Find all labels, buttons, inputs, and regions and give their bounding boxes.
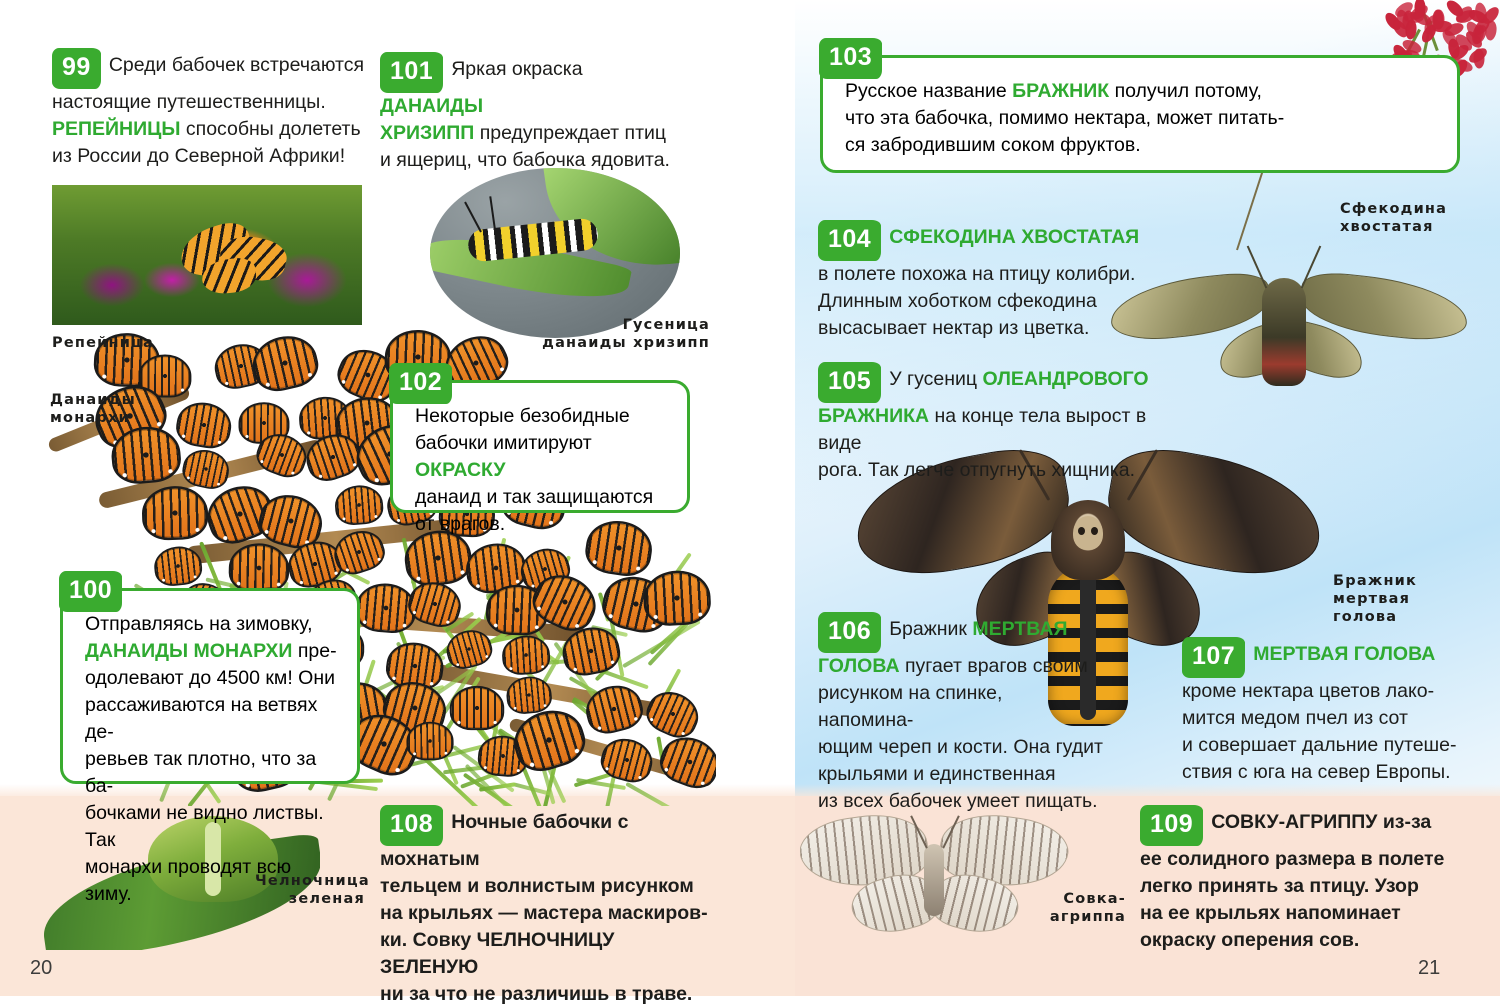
body-text: на ее крыльях напоминает xyxy=(1140,902,1401,924)
fact-number-badge: 109 xyxy=(1140,805,1203,846)
fact-102-callout: 102Некоторые безобидныебабочки имитируют… xyxy=(390,380,690,513)
body-text: ни за что не различишь в траве. xyxy=(380,983,692,1005)
highlighted-term: ОКРАСКУ xyxy=(415,459,506,481)
body-text: в полете похожа на птицу колибри. xyxy=(818,263,1135,285)
fact-line: 105У гусениц ОЛЕАНДРОВОГО xyxy=(818,362,1178,403)
fact-number-badge: 99 xyxy=(52,48,101,89)
caption-brazhnik-mertvaya-golova: Бражник мертвая голова xyxy=(1333,572,1417,626)
caption-chelnochnitsa: Челночница зеленая xyxy=(255,872,365,908)
fact-number-badge-wrapper: 103 xyxy=(819,38,882,79)
caption-gusenitsa-danaidy: Гусеница данаиды хризипп xyxy=(495,316,710,352)
fact-line: ся забродившим соком фруктов. xyxy=(845,132,1439,159)
body-text: настоящие путешественницы. xyxy=(52,91,326,113)
highlighted-term: МЕРТВАЯ xyxy=(972,618,1067,640)
body-text: из всех бабочек умеет пищать. xyxy=(818,790,1098,812)
highlighted-term: СФЕКОДИНА ХВОСТАТАЯ xyxy=(889,226,1139,248)
fact-line: на крыльях — мастера маскиров- xyxy=(380,900,710,927)
fact-line: 106Бражник МЕРТВАЯ xyxy=(818,612,1103,653)
highlighted-term: ДАНАИДЫ МОНАРХИ xyxy=(85,640,292,662)
fact-line: рассаживаются на ветвях де- xyxy=(85,692,339,746)
fact-line: Русское название БРАЖНИК получил потому, xyxy=(845,78,1439,105)
body-text: одолевают до 4500 км! Они xyxy=(85,667,335,689)
body-text: высасывает нектар из цветка. xyxy=(818,317,1089,339)
fact-line: БРАЖНИКА на конце тела вырост в виде xyxy=(818,403,1178,457)
body-text: ющим череп и кости. Она гудит xyxy=(818,736,1103,758)
body-text: бабочки имитируют xyxy=(415,432,592,454)
fact-line: рога. Так легче отпугнуть хищника. xyxy=(818,457,1178,484)
body-text: ее солидного размера в полете xyxy=(1140,848,1444,870)
body-text: данаид и так защищаются xyxy=(415,486,653,508)
body-text: из России до Северной Африки! xyxy=(52,145,345,167)
fact-line: данаид и так защищаются xyxy=(415,484,669,511)
fact-103-callout: 103Русское название БРАЖНИК получил пото… xyxy=(820,55,1460,173)
callout-text: Русское название БРАЖНИК получил потому,… xyxy=(823,58,1457,175)
fact-line: тельцем и волнистым рисунком xyxy=(380,873,710,900)
fact-line: в полете похожа на птицу колибри. xyxy=(818,261,1158,288)
body-text: ся забродившим соком фруктов. xyxy=(845,134,1141,156)
fact-line: и совершает дальние путеше- xyxy=(1182,732,1467,759)
pine-needle xyxy=(625,782,671,806)
body-text: Среди бабочек встречаются xyxy=(109,54,364,76)
body-text: пугает врагов своим xyxy=(900,655,1088,677)
fact-number-badge: 106 xyxy=(818,612,881,653)
fact-line: ХРИЗИПП предупреждает птиц xyxy=(380,120,690,147)
fact-line: ревьев так плотно, что за ба- xyxy=(85,746,339,800)
body-text: Русское название xyxy=(845,80,1012,102)
fact-107: 107МЕРТВАЯ ГОЛОВАкроме нектара цветов ла… xyxy=(1182,637,1467,786)
fact-number-badge: 105 xyxy=(818,362,881,403)
fact-line: Длинным хоботком сфекодина xyxy=(818,288,1158,315)
body-text: Отправляясь на зимовку, xyxy=(85,613,313,635)
body-text: ки. Совку ЧЕЛНОЧНИЦУ ЗЕЛЕНУЮ xyxy=(380,929,614,978)
fact-line: ствия с юга на север Европы. xyxy=(1182,759,1467,786)
page-number-left: 20 xyxy=(30,957,52,980)
fact-number-badge: 102 xyxy=(389,363,452,404)
body-text: окраску оперения сов. xyxy=(1140,929,1359,951)
fact-line: из всех бабочек умеет пищать. xyxy=(818,788,1103,815)
body-text: кроме нектара цветов лако- xyxy=(1182,680,1434,702)
body-text: рога. Так легче отпугнуть хищника. xyxy=(818,459,1135,481)
fact-line: РЕПЕЙНИЦЫ способны долететь xyxy=(52,116,372,143)
photo-danaus-chrysippus-caterpillar xyxy=(430,168,680,338)
book-spread: 99Среди бабочек встречаютсянастоящие пут… xyxy=(0,0,1500,996)
monarch-butterfly xyxy=(229,543,290,593)
fact-106: 106Бражник МЕРТВАЯГОЛОВА пугает врагов с… xyxy=(818,612,1103,815)
fact-line: мится медом пчел из сот xyxy=(1182,705,1467,732)
fact-line: окраску оперения сов. xyxy=(1140,927,1460,954)
fact-line: и ящериц, что бабочка ядовита. xyxy=(380,147,690,174)
caption-sovka-agrippa: Совка- агриппа xyxy=(1028,890,1126,926)
monarch-butterfly xyxy=(334,484,385,527)
highlighted-term: РЕПЕЙНИЦЫ xyxy=(52,118,180,140)
fact-line: Некоторые безобидные xyxy=(415,403,669,430)
body-text: СОВКУ-АГРИППУ из-за xyxy=(1211,811,1431,833)
fact-number-badge-wrapper: 100 xyxy=(59,571,122,612)
body-text: легко принять за птицу. Узор xyxy=(1140,875,1419,897)
fact-number-badge: 101 xyxy=(380,52,443,93)
caption-danaidy-monarhi: Данаиды монархи xyxy=(50,391,136,427)
body-text: рассаживаются на ветвях де- xyxy=(85,694,317,743)
fact-104: 104СФЕКОДИНА ХВОСТАТАЯв полете похожа на… xyxy=(818,220,1158,342)
fact-line: из России до Северной Африки! xyxy=(52,143,372,170)
body-text: на крыльях — мастера маскиров- xyxy=(380,902,708,924)
monarch-butterfly xyxy=(141,485,209,541)
highlighted-term: МЕРТВАЯ ГОЛОВА xyxy=(1253,643,1435,665)
highlighted-term: ОЛЕАНДРОВОГО xyxy=(983,368,1149,390)
fact-line: бочками не видно листвы. Так xyxy=(85,800,339,854)
body-text: ствия с юга на север Европы. xyxy=(1182,761,1451,783)
fact-number-badge-wrapper: 102 xyxy=(389,363,452,404)
body-text: Длинным хоботком сфекодина xyxy=(818,290,1097,312)
body-text: бочками не видно листвы. Так xyxy=(85,802,324,851)
fact-number-badge: 107 xyxy=(1182,637,1245,678)
monarch-butterfly xyxy=(406,721,454,760)
fact-line: рисунком на спинке, напомина- xyxy=(818,680,1103,734)
body-text: мится медом пчел из сот xyxy=(1182,707,1408,729)
body-text: Бражник xyxy=(889,618,972,640)
fact-line: 108Ночные бабочки с мохнатым xyxy=(380,805,710,873)
fact-line: 107МЕРТВАЯ ГОЛОВА xyxy=(1182,637,1467,678)
fact-99: 99Среди бабочек встречаютсянастоящие пут… xyxy=(52,48,372,170)
fact-line: от врагов. xyxy=(415,511,669,538)
fact-105: 105У гусениц ОЛЕАНДРОВОГОБРАЖНИКА на кон… xyxy=(818,362,1178,484)
body-text: получил потому, xyxy=(1109,80,1262,102)
caption-sfekodina: Сфекодина хвостатая xyxy=(1340,200,1447,236)
fact-line: 101Яркая окраска ДАНАИДЫ xyxy=(380,52,690,120)
fact-line: ни за что не различишь в траве. xyxy=(380,981,710,1008)
monarch-butterfly xyxy=(655,729,716,794)
fact-line: высасывает нектар из цветка. xyxy=(818,315,1158,342)
monarch-butterfly xyxy=(450,686,504,730)
body-text: что эта бабочка, помимо нектара, может п… xyxy=(845,107,1284,129)
fact-line: бабочки имитируют ОКРАСКУ xyxy=(415,430,669,484)
monarch-butterfly xyxy=(247,330,322,396)
body-text: способны долететь xyxy=(180,118,360,140)
fact-line: 99Среди бабочек встречаются xyxy=(52,48,372,89)
highlighted-term: ГОЛОВА xyxy=(818,655,900,677)
fact-number-badge: 100 xyxy=(59,571,122,612)
fact-line: что эта бабочка, помимо нектара, может п… xyxy=(845,105,1439,132)
fact-line: крыльями и единственная xyxy=(818,761,1103,788)
fact-line: 109СОВКУ-АГРИППУ из-за xyxy=(1140,805,1460,846)
body-text: ревьев так плотно, что за ба- xyxy=(85,748,316,797)
fact-line: настоящие путешественницы. xyxy=(52,89,372,116)
fact-100-callout: 100Отправляясь на зимовку,ДАНАИДЫ МОНАРХ… xyxy=(60,588,360,784)
fact-line: Отправляясь на зимовку, xyxy=(85,611,339,638)
body-text: рисунком на спинке, напомина- xyxy=(818,682,1002,731)
fact-line: ки. Совку ЧЕЛНОЧНИЦУ ЗЕЛЕНУЮ xyxy=(380,927,710,981)
fact-109: 109СОВКУ-АГРИППУ из-заее солидного разме… xyxy=(1140,805,1460,954)
highlighted-term: ХРИЗИПП xyxy=(380,122,474,144)
fact-line: легко принять за птицу. Узор xyxy=(1140,873,1460,900)
body-text: предупреждает птиц xyxy=(474,122,666,144)
body-text: тельцем и волнистым рисунком xyxy=(380,875,694,897)
monarch-butterfly xyxy=(641,684,705,744)
fact-line: кроме нектара цветов лако- xyxy=(1182,678,1467,705)
body-text: Яркая окраска xyxy=(451,58,582,80)
body-text: крыльями и единственная xyxy=(818,763,1056,785)
body-text: и совершает дальние путеше- xyxy=(1182,734,1457,756)
body-text: от врагов. xyxy=(415,513,505,535)
fact-number-badge: 104 xyxy=(818,220,881,261)
fact-line: ющим череп и кости. Она гудит xyxy=(818,734,1103,761)
monarch-butterfly xyxy=(173,399,234,452)
body-text: Некоторые безобидные xyxy=(415,405,630,427)
body-text: и ящериц, что бабочка ядовита. xyxy=(380,149,670,171)
highlighted-term: ДАНАИДЫ xyxy=(380,95,483,117)
fact-108: 108Ночные бабочки с мохнатымтельцем и во… xyxy=(380,805,710,1008)
caption-repeinitsa: Репейница xyxy=(52,334,154,352)
body-text: У гусениц xyxy=(889,368,982,390)
fact-line: на ее крыльях напоминает xyxy=(1140,900,1460,927)
highlighted-term: БРАЖНИКА xyxy=(818,405,929,427)
body-text: пре- xyxy=(292,640,336,662)
page-number-right: 21 xyxy=(1418,957,1440,980)
fact-line: 104СФЕКОДИНА ХВОСТАТАЯ xyxy=(818,220,1158,261)
fact-line: ДАНАИДЫ МОНАРХИ пре- xyxy=(85,638,339,665)
fact-number-badge: 108 xyxy=(380,805,443,846)
fact-101: 101Яркая окраска ДАНАИДЫХРИЗИПП предупре… xyxy=(380,52,690,174)
photo-painted-lady xyxy=(52,185,362,325)
highlighted-term: БРАЖНИК xyxy=(1012,80,1109,102)
fact-line: одолевают до 4500 км! Они xyxy=(85,665,339,692)
monarch-butterfly xyxy=(643,568,713,626)
fact-line: ее солидного размера в полете xyxy=(1140,846,1460,873)
callout-text: Некоторые безобидныебабочки имитируют ОК… xyxy=(393,383,687,554)
monarch-butterfly xyxy=(597,734,657,787)
fact-number-badge: 103 xyxy=(819,38,882,79)
fact-line: ГОЛОВА пугает врагов своим xyxy=(818,653,1103,680)
